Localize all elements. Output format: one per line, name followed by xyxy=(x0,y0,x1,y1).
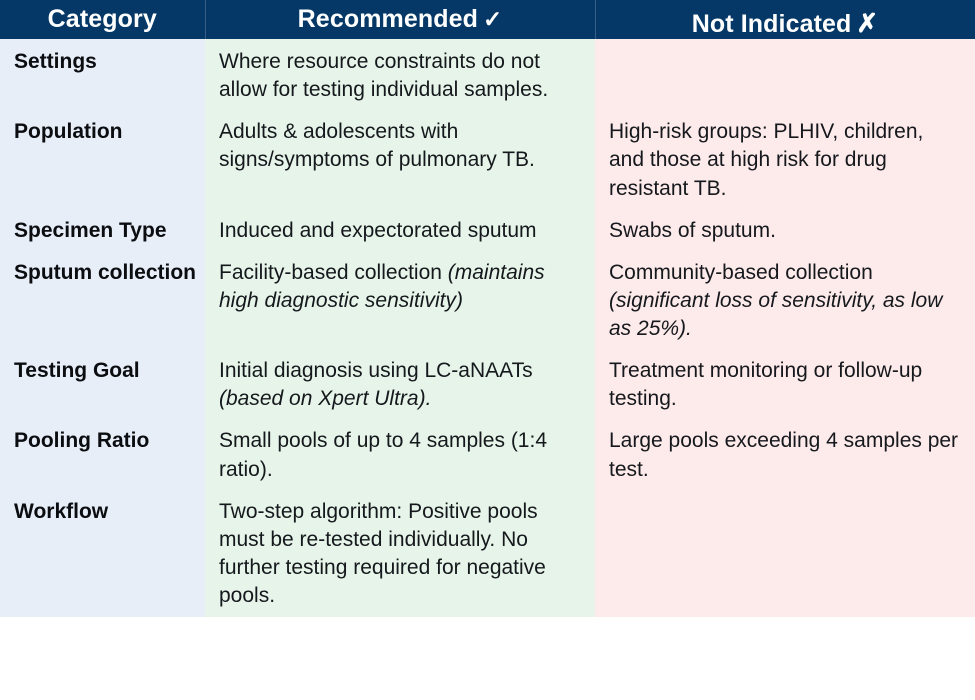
recommended-text: Adults & adolescents with signs/symptoms… xyxy=(219,120,535,171)
row-recommended-cell: Two-step algorithm: Positive pools must … xyxy=(205,491,595,618)
row-category-label: Population xyxy=(0,111,205,209)
table-row: Settings Where resource constraints do n… xyxy=(0,39,975,111)
row-not-indicated-cell: Community-based collection (significant … xyxy=(595,252,975,350)
row-category-label: Pooling Ratio xyxy=(0,420,205,490)
recommended-text: Initial diagnosis using LC-aNAATs xyxy=(219,359,533,382)
recommended-text: Where resource constraints do not allow … xyxy=(219,50,548,101)
not-indicated-note: (significant loss of sensitivity, as low… xyxy=(609,289,942,340)
row-category-label: Specimen Type xyxy=(0,210,205,252)
table-row: Workflow Two-step algorithm: Positive po… xyxy=(0,491,975,618)
table-row: Population Adults & adolescents with sig… xyxy=(0,111,975,209)
not-indicated-text: Treatment monitoring or follow-up testin… xyxy=(609,359,922,410)
column-header-not-indicated-label: Not Indicated xyxy=(692,10,852,38)
row-category-label: Testing Goal xyxy=(0,350,205,420)
table-row: Specimen Type Induced and expectorated s… xyxy=(0,210,975,252)
table-row: Sputum collection Facility-based collect… xyxy=(0,252,975,350)
row-category-label: Sputum collection xyxy=(0,252,205,350)
header-row: Category Recommended✓ Not Indicated✗ xyxy=(0,0,975,39)
recommendation-comparison-table: Category Recommended✓ Not Indicated✗ Set… xyxy=(0,0,975,617)
comparison-table-container: Category Recommended✓ Not Indicated✗ Set… xyxy=(0,0,975,700)
not-indicated-text: Swabs of sputum. xyxy=(609,219,776,242)
x-icon: ✗ xyxy=(856,10,878,36)
row-not-indicated-cell: Swabs of sputum. xyxy=(595,210,975,252)
row-not-indicated-cell: Large pools exceeding 4 samples per test… xyxy=(595,420,975,490)
recommended-text: Small pools of up to 4 samples (1:4 rati… xyxy=(219,429,547,480)
row-category-label: Workflow xyxy=(0,491,205,618)
row-recommended-cell: Small pools of up to 4 samples (1:4 rati… xyxy=(205,420,595,490)
row-category-label: Settings xyxy=(0,39,205,111)
column-header-category-label: Category xyxy=(48,5,157,33)
row-not-indicated-cell xyxy=(595,491,975,618)
check-icon: ✓ xyxy=(483,8,502,31)
column-header-category: Category xyxy=(0,0,205,39)
column-header-not-indicated-wrap: Not Indicated✗ xyxy=(596,0,975,39)
row-recommended-cell: Adults & adolescents with signs/symptoms… xyxy=(205,111,595,209)
recommended-text: Induced and expectorated sputum xyxy=(219,219,537,242)
recommended-text: Two-step algorithm: Positive pools must … xyxy=(219,500,546,607)
column-header-not-indicated: Not Indicated✗ xyxy=(595,0,975,39)
row-recommended-cell: Where resource constraints do not allow … xyxy=(205,39,595,111)
column-header-recommended-label: Recommended xyxy=(298,5,478,33)
row-recommended-cell: Induced and expectorated sputum xyxy=(205,210,595,252)
table-header: Category Recommended✓ Not Indicated✗ xyxy=(0,0,975,39)
table-row: Pooling Ratio Small pools of up to 4 sam… xyxy=(0,420,975,490)
row-recommended-cell: Initial diagnosis using LC-aNAATs (based… xyxy=(205,350,595,420)
not-indicated-text: High-risk groups: PLHIV, children, and t… xyxy=(609,120,923,199)
column-header-recommended: Recommended✓ xyxy=(205,0,595,39)
row-not-indicated-cell: High-risk groups: PLHIV, children, and t… xyxy=(595,111,975,209)
recommended-note: (based on Xpert Ultra). xyxy=(219,387,431,410)
not-indicated-text: Community-based collection xyxy=(609,261,873,284)
not-indicated-text: Large pools exceeding 4 samples per test… xyxy=(609,429,958,480)
table-body: Settings Where resource constraints do n… xyxy=(0,39,975,617)
row-not-indicated-cell: Treatment monitoring or follow-up testin… xyxy=(595,350,975,420)
row-recommended-cell: Facility-based collection (maintains hig… xyxy=(205,252,595,350)
table-row: Testing Goal Initial diagnosis using LC-… xyxy=(0,350,975,420)
row-not-indicated-cell xyxy=(595,39,975,111)
recommended-text: Facility-based collection xyxy=(219,261,448,284)
